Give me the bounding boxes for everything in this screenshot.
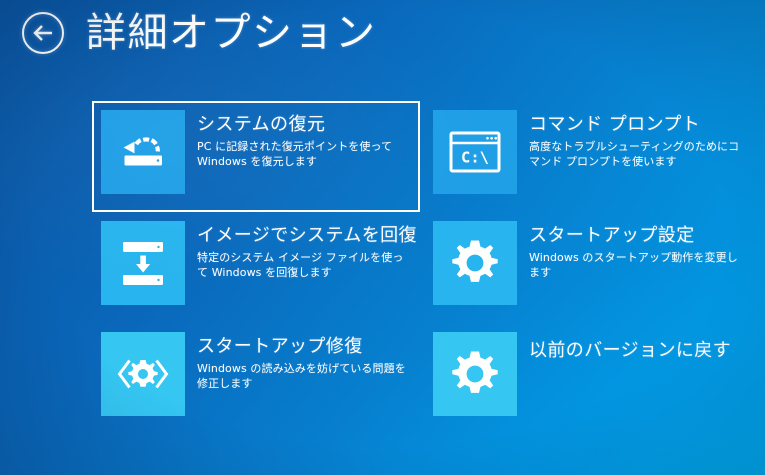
option-title: 以前のバージョンに戻す — [529, 340, 752, 362]
option-title: スタートアップ設定 — [529, 225, 752, 247]
option-tile-startup-repair[interactable]: スタートアップ修復 Windows の読み込みを妨げている問題を修正します — [92, 323, 420, 434]
command-prompt-icon: C:\ — [433, 110, 517, 194]
option-tile-startup-settings[interactable]: スタートアップ設定 Windows のスタートアップ動作を変更します — [424, 212, 752, 323]
option-title: コマンド プロンプト — [529, 114, 752, 136]
option-tile-command-prompt[interactable]: C:\ コマンド プロンプト 高度なトラブルシューティングのためにコマンド プロ… — [424, 101, 752, 212]
option-description: Windows のスタートアップ動作を変更します — [529, 250, 741, 280]
option-description: PC に記録された復元ポイントを使って Windows を復元します — [197, 139, 409, 169]
option-title: イメージでシステムを回復 — [197, 225, 420, 247]
page-title: 詳細オプション — [86, 13, 377, 53]
options-grid: システムの復元 PC に記録された復元ポイントを使って Windows を復元し… — [92, 101, 752, 434]
winre-advanced-options-screen: 詳細オプション — [0, 0, 765, 475]
option-description: 高度なトラブルシューティングのためにコマンド プロンプトを使います — [529, 139, 741, 169]
page-header: 詳細オプション — [22, 12, 377, 54]
option-tile-system-image-recovery[interactable]: イメージでシステムを回復 特定のシステム イメージ ファイルを使って Windo… — [92, 212, 420, 323]
gear-icon — [433, 221, 517, 305]
gear-icon — [433, 332, 517, 416]
option-title: システムの復元 — [197, 114, 420, 136]
svg-text:C:\: C:\ — [461, 149, 489, 167]
system-restore-icon — [101, 110, 185, 194]
option-tile-system-restore[interactable]: システムの復元 PC に記録された復元ポイントを使って Windows を復元し… — [92, 101, 420, 212]
option-description: 特定のシステム イメージ ファイルを使って Windows を回復します — [197, 250, 409, 280]
back-arrow-circle-icon[interactable] — [22, 12, 64, 54]
startup-repair-icon — [101, 332, 185, 416]
option-description: Windows の読み込みを妨げている問題を修正します — [197, 361, 409, 391]
option-title: スタートアップ修復 — [197, 336, 420, 358]
system-image-recovery-icon — [101, 221, 185, 305]
option-tile-go-back-previous-version[interactable]: 以前のバージョンに戻す — [424, 323, 752, 434]
